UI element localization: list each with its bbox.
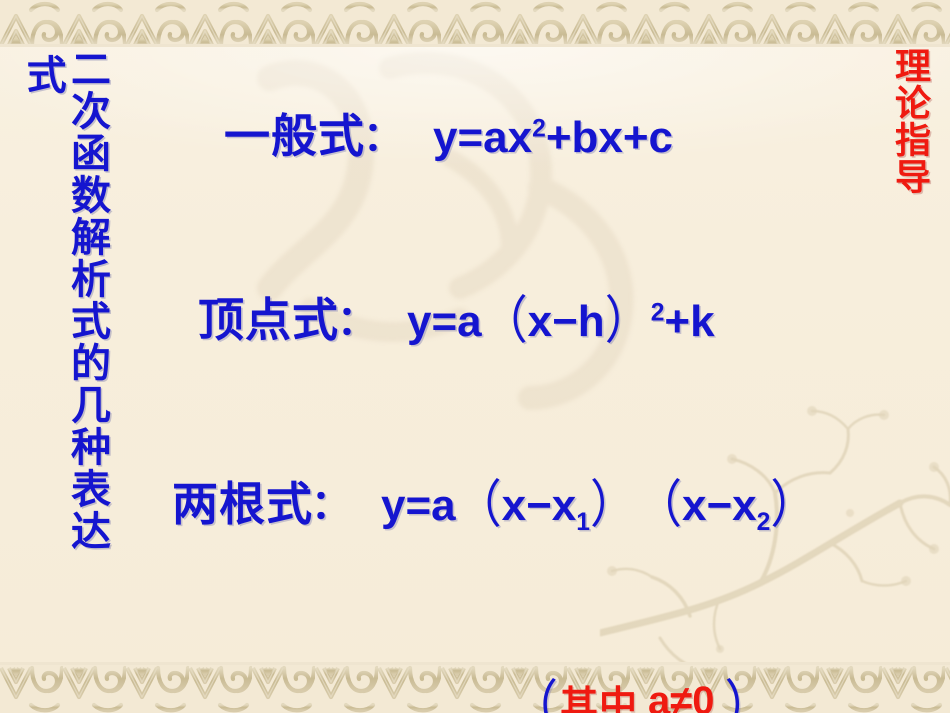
note-right-paren: ） [724,661,772,713]
expr-seg-a: y=a [381,481,456,530]
note-left-paren: （ [510,661,558,713]
expr-left-paren-2: （ [636,464,682,538]
expr-right-paren-1: ） [590,464,636,538]
formula-colon-general: ： [363,104,403,162]
formula-row-vertex: 顶点式 ： y=a（x−h）2+k [198,284,715,350]
expr-seg-b: x−x [502,481,577,530]
formula-label-vertex: 顶点式 [198,284,339,350]
formula-label-general: 一般式 [224,100,365,166]
formula-colon-vertex: ： [337,288,377,346]
formula-label-factored: 两根式 [172,468,313,534]
expr-subscript-1: 1 [576,509,590,536]
condition-note: （ 其中 a≠0 ） [510,666,773,713]
expr-seg-b: x−h [528,297,605,346]
left-vertical-title: 二次函数解析式的几种表达 式 [0,48,112,638]
expr-left-paren: （ [482,280,528,354]
expr-right-paren: ） [605,280,651,354]
formula-expression-factored: y=a（x−x1）（x−x2） [381,468,816,534]
vertical-title-column-main: 二次函数解析式的几种表达 [66,48,108,552]
formula-expression-vertex: y=a（x−h）2+k [407,284,715,350]
formula-row-factored: 两根式 ： y=a（x−x1）（x−x2） [172,468,816,534]
formula-row-general: 一般式 ： y=ax2+bx+c [224,100,673,166]
formula-colon-factored: ： [311,472,351,530]
formula-list: 一般式 ： y=ax2+bx+c 顶点式 ： y=a（x−h）2+k 两根式 ：… [120,96,910,656]
expr-superscript-2: 2 [532,115,546,142]
expr-left-paren-1: （ [456,464,502,538]
expr-right-paren-2: ） [770,464,816,538]
formula-expression-general: y=ax2+bx+c [433,113,673,163]
expr-seg-c: x−x [682,481,757,530]
expr-seg-a: y=a [407,297,482,346]
note-chinese-text: 其中 [560,674,638,713]
slide-canvas: 二次函数解析式的几种表达 式 理论指导 一般式 ： y=ax2+bx+c 顶点式… [0,0,950,713]
expr-seg-c: +k [664,297,714,346]
expr-seg-b: +bx+c [546,113,673,162]
expr-seg-a: y=ax [433,113,532,162]
note-condition-math: a≠0 [648,679,714,713]
expr-superscript-2: 2 [651,299,665,326]
vertical-title-column-tail: 式 [21,54,63,96]
expr-subscript-2: 2 [757,509,771,536]
